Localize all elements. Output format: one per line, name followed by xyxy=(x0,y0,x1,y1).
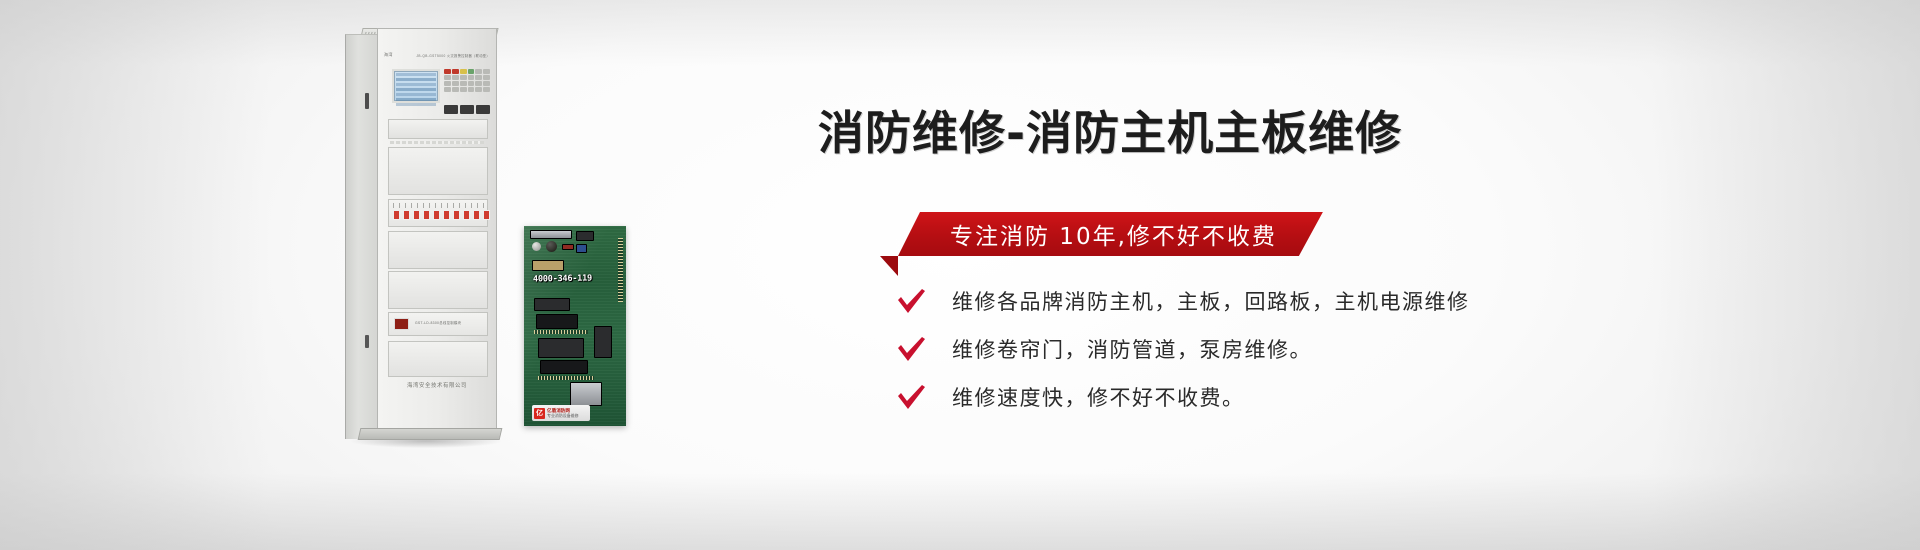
cabinet-model-text: JB-QB-GST5000 火灾报警控制器（联动型） xyxy=(416,53,490,58)
cabinet-label-strip-1 xyxy=(390,141,484,144)
background-vignette xyxy=(0,0,1920,550)
cabinet-blank-module-2 xyxy=(388,147,488,195)
cabinet-brand-logo: 海湾 xyxy=(384,52,393,58)
list-item-label: 维修各品牌消防主机，主板，回路板，主机电源维修 xyxy=(952,286,1470,316)
zone-led-row xyxy=(393,210,490,220)
badge-logo-icon: 亿 xyxy=(534,408,545,419)
cabinet-brand-row: 海湾 JB-QB-GST5000 火灾报警控制器（联动型） xyxy=(384,51,490,59)
page-title: 消防维修-消防主机主板维修 xyxy=(818,97,1402,163)
pcb-ic-1 xyxy=(532,260,564,271)
cabinet-zone-indicator-board xyxy=(388,199,488,227)
pcb-watermark-badge: 亿 亿盾消防网 专业消防设备维修 xyxy=(532,405,590,421)
cabinet-side-panel xyxy=(345,34,378,439)
pcb-eprom xyxy=(570,382,602,406)
badge-text: 亿盾消防网 专业消防设备维修 xyxy=(547,408,584,419)
pcb-ic-3 xyxy=(536,314,578,329)
cabinet-door-handle-upper xyxy=(365,93,369,109)
zone-tick-marks xyxy=(393,203,484,208)
pcb-chip-a xyxy=(576,231,594,241)
list-item: 维修卷帘门，消防管道，泵房维修。 xyxy=(896,334,1470,364)
pcb-resistor-1 xyxy=(562,244,574,250)
list-item-label: 维修卷帘门，消防管道，泵房维修。 xyxy=(952,334,1312,364)
pcb-connector-top xyxy=(530,230,572,239)
pcb-relay xyxy=(538,338,584,358)
cabinet-blank-module-1 xyxy=(388,119,488,139)
pcb-phone-overlay: 4000-346-119 xyxy=(533,273,592,284)
pcb-pin-header-right xyxy=(618,238,623,302)
circuit-board-image: 4000-346-119 亿 亿盾消防网 专业消防设备维修 xyxy=(524,226,626,426)
promo-banner: 海湾 JB-QB-GST5000 火灾报警控制器（联动型） xyxy=(0,0,1920,550)
pcb-trimmer xyxy=(576,244,587,253)
pcb-ic-4 xyxy=(540,360,588,374)
cabinet-front-face: 海湾 JB-QB-GST5000 火灾报警控制器（联动型） xyxy=(377,28,497,440)
list-item: 维修速度快，修不好不收费。 xyxy=(896,382,1470,412)
pcb-pin-row-2 xyxy=(538,376,594,380)
pcb-pin-row-1 xyxy=(534,330,588,334)
pcb-capacitor-2 xyxy=(546,241,557,252)
cabinet-base-plinth xyxy=(358,428,503,440)
check-icon xyxy=(896,288,926,314)
cabinet-blank-module-4 xyxy=(388,271,488,309)
check-icon xyxy=(896,336,926,362)
list-item: 维修各品牌消防主机，主板，回路板，主机电源维修 xyxy=(896,286,1470,316)
pcb-chip-b xyxy=(594,326,612,358)
cabinet-function-buttons xyxy=(444,105,490,114)
cabinet-control-module: GST-LD-8300总线控制模块 xyxy=(388,312,488,336)
cabinet-keypad xyxy=(444,69,490,101)
cabinet-door-handle-lower xyxy=(365,335,369,348)
feature-list: 维修各品牌消防主机，主板，回路板，主机电源维修 维修卷帘门，消防管道，泵房维修。… xyxy=(896,286,1470,412)
cabinet-lcd-display xyxy=(392,69,440,103)
pcb-ic-2 xyxy=(534,298,570,311)
list-item-label: 维修速度快，修不好不收费。 xyxy=(952,382,1245,412)
slogan-ribbon: 专注消防 10年,修不好不收费 xyxy=(898,212,1323,256)
ribbon-fold-icon xyxy=(880,256,898,276)
slogan-text: 专注消防 10年,修不好不收费 xyxy=(950,217,1277,251)
check-icon xyxy=(896,384,926,410)
module-label: GST-LD-8300总线控制模块 xyxy=(415,320,461,325)
fire-alarm-control-panel-image: 海湾 JB-QB-GST5000 火灾报警控制器（联动型） xyxy=(345,16,505,448)
cabinet-blank-module-5 xyxy=(388,341,488,377)
module-display xyxy=(394,318,409,330)
cabinet-blank-module-3 xyxy=(388,231,488,269)
pcb-capacitor-1 xyxy=(532,242,541,251)
cabinet-manufacturer-label: 海湾安全技术有限公司 xyxy=(378,381,496,389)
